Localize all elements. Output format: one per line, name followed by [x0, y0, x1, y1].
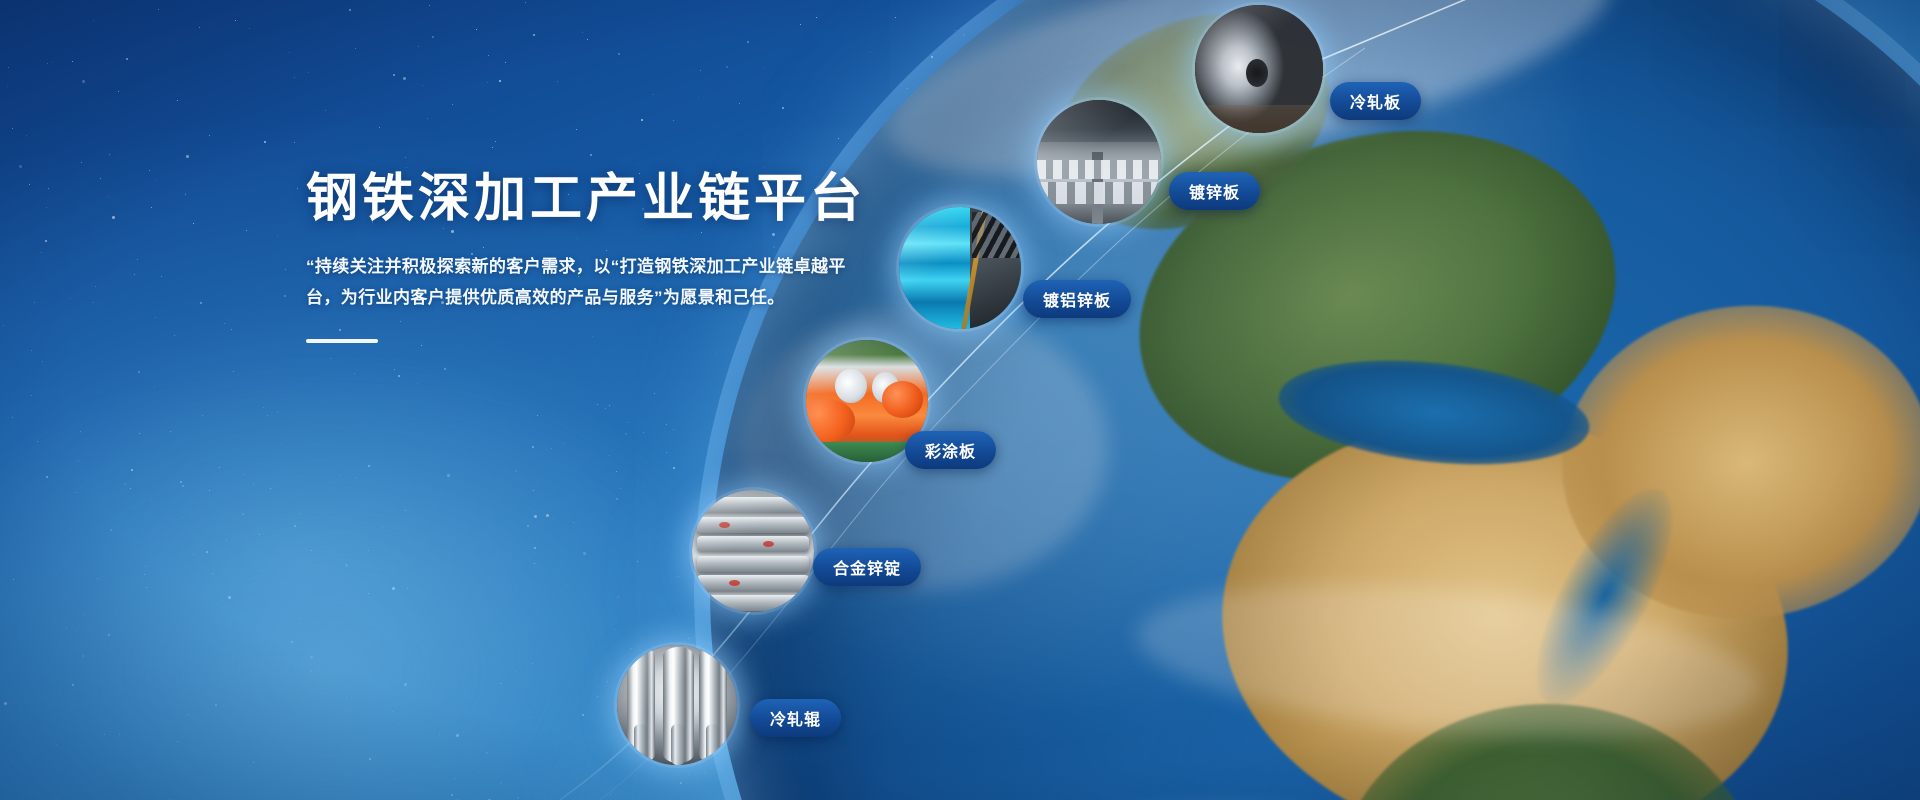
- galvanized-warehouse-photo: [1037, 100, 1161, 224]
- page-title: 钢铁深加工产业链平台: [306, 168, 926, 230]
- product-label-zinc-alloy-ingot[interactable]: 合金锌锭: [813, 548, 921, 586]
- product-label-galvanized-sheet[interactable]: 镀锌板: [1169, 172, 1260, 210]
- landmass-arabia: [1547, 288, 1920, 637]
- product-thumb-zinc-alloy-ingot[interactable]: [692, 490, 814, 612]
- product-label-cold-rolled-sheet[interactable]: 冷轧板: [1330, 82, 1421, 120]
- water-red-sea: [1510, 471, 1699, 724]
- aluzinc-coil-photo: [899, 207, 1021, 329]
- zinc-ingot-stack-photo: [692, 490, 814, 612]
- water-mediterranean: [1274, 347, 1595, 478]
- title-underline-rule: [306, 339, 378, 343]
- connector-path: [0, 0, 1920, 800]
- starfield-decoration: [0, 0, 1920, 800]
- landmass-central-africa: [1335, 704, 1761, 800]
- landmass-sahara: [1194, 382, 1816, 800]
- page-subtitle: “持续关注并积极探索新的客户需求，以“打造钢铁深加工产业链卓越平台，为行业内客户…: [306, 252, 872, 313]
- chrome-roller-photo: [617, 645, 737, 765]
- product-label-cold-rolling-roll[interactable]: 冷轧辊: [750, 699, 841, 737]
- product-label-color-coated-sheet[interactable]: 彩涂板: [905, 431, 996, 469]
- cloud-band-equator: [1131, 563, 1766, 759]
- product-thumb-aluzinc-sheet[interactable]: [899, 207, 1021, 329]
- steel-coil-photo: [1195, 5, 1323, 133]
- product-thumb-galvanized-sheet[interactable]: [1037, 100, 1161, 224]
- cloud-swirl-south: [805, 773, 1495, 800]
- hero-banner: 钢铁深加工产业链平台 “持续关注并积极探索新的客户需求，以“打造钢铁深加工产业链…: [0, 0, 1920, 800]
- hero-copy: 钢铁深加工产业链平台 “持续关注并积极探索新的客户需求，以“打造钢铁深加工产业链…: [306, 168, 926, 343]
- product-thumb-cold-rolling-roll[interactable]: [617, 645, 737, 765]
- product-label-aluzinc-sheet[interactable]: 镀铝锌板: [1023, 280, 1131, 318]
- product-thumb-cold-rolled-sheet[interactable]: [1195, 5, 1323, 133]
- landmass-europe: [1102, 82, 1653, 529]
- vignette-overlay: [0, 0, 1920, 800]
